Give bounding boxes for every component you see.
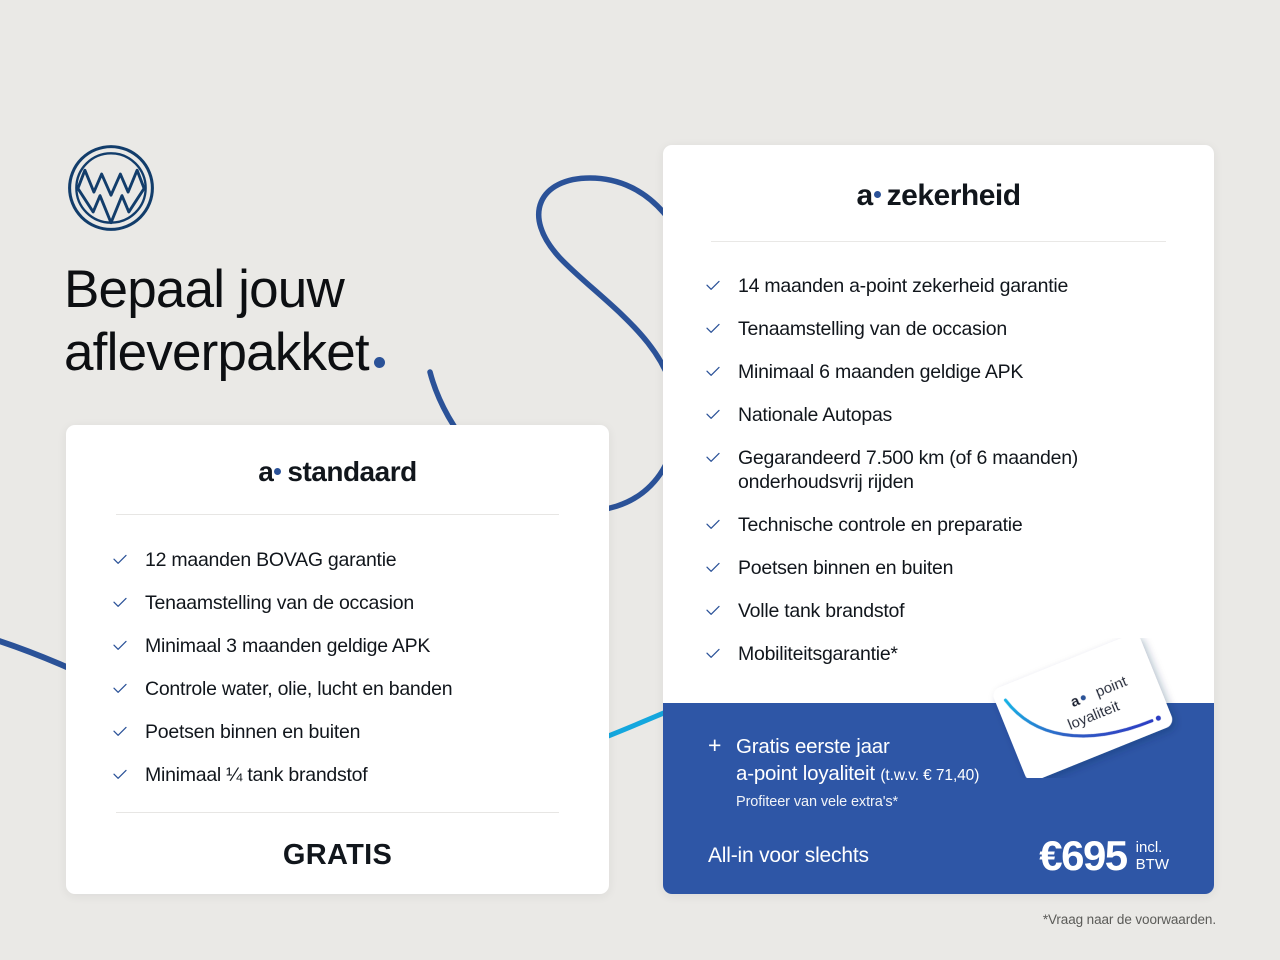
list-item: Poetsen binnen en buiten bbox=[705, 556, 1168, 580]
headline-dot-icon bbox=[374, 357, 385, 368]
list-item: Poetsen binnen en buiten bbox=[112, 720, 563, 744]
feature-label: Gegarandeerd 7.500 km (of 6 maanden) ond… bbox=[738, 446, 1168, 494]
checkmark-icon bbox=[705, 321, 721, 337]
list-item: 12 maanden BOVAG garantie bbox=[112, 548, 563, 572]
feature-label: Tenaamstelling van de occasion bbox=[738, 317, 1007, 341]
list-item: Nationale Autopas bbox=[705, 403, 1168, 427]
list-item: Tenaamstelling van de occasion bbox=[112, 591, 563, 615]
checkmark-icon bbox=[112, 638, 128, 654]
headline-line-1: Bepaal jouw bbox=[64, 260, 344, 319]
promo-price-amount: €695 bbox=[1039, 835, 1126, 877]
list-item: Minimaal 3 maanden geldige APK bbox=[112, 634, 563, 658]
feature-label: Poetsen binnen en buiten bbox=[738, 556, 953, 580]
checkmark-icon bbox=[705, 560, 721, 576]
promo-subline: Profiteer van vele extra's* bbox=[736, 791, 1214, 813]
list-item: Mobiliteitsgarantie* bbox=[705, 642, 1168, 666]
feature-label: Nationale Autopas bbox=[738, 403, 892, 427]
promo-bonus-value: (t.w.v. € 71,40) bbox=[880, 767, 979, 784]
feature-label: Volle tank brandstof bbox=[738, 599, 904, 623]
checkmark-icon bbox=[705, 364, 721, 380]
footnote-text: *Vraag naar de voorwaarden. bbox=[1043, 912, 1216, 927]
promo-bonus-row: + Gratis eerste jaar a-point loyaliteit … bbox=[708, 733, 1214, 813]
checkmark-icon bbox=[112, 552, 128, 568]
list-item: Tenaamstelling van de occasion bbox=[705, 317, 1168, 341]
headline-line-2: afleverpakket bbox=[64, 323, 369, 382]
feature-label: Mobiliteitsgarantie* bbox=[738, 642, 898, 666]
feature-label: Minimaal ¼ tank brandstof bbox=[145, 763, 367, 787]
promo-bonus-line-1: Gratis eerste jaar bbox=[736, 733, 1214, 760]
feature-label: Minimaal 6 maanden geldige APK bbox=[738, 360, 1023, 384]
promo-price-row: All-in voor slechts €695 incl. BTW bbox=[708, 835, 1214, 877]
promo-price-vat-note: incl. BTW bbox=[1136, 839, 1169, 873]
zekerheid-divider-top bbox=[711, 241, 1166, 242]
volkswagen-logo bbox=[66, 143, 156, 233]
list-item: Gegarandeerd 7.500 km (of 6 maanden) ond… bbox=[705, 446, 1168, 494]
zekerheid-feature-list: 14 maanden a-point zekerheid garantie Te… bbox=[663, 274, 1214, 666]
checkmark-icon bbox=[112, 724, 128, 740]
checkmark-icon bbox=[112, 767, 128, 783]
page-title: Bepaal jouw afleverpakket bbox=[64, 258, 385, 384]
list-item: Minimaal ¼ tank brandstof bbox=[112, 763, 563, 787]
feature-label: 14 maanden a-point zekerheid garantie bbox=[738, 274, 1068, 298]
promo-bonus-line-2: a-point loyaliteit bbox=[736, 762, 875, 785]
brand-dot-icon bbox=[874, 191, 881, 198]
promo-vat-line-1: incl. bbox=[1136, 839, 1169, 856]
standaard-divider-top bbox=[116, 514, 559, 515]
feature-label: 12 maanden BOVAG garantie bbox=[145, 548, 396, 572]
list-item: 14 maanden a-point zekerheid garantie bbox=[705, 274, 1168, 298]
standaard-feature-list: 12 maanden BOVAG garantie Tenaamstelling… bbox=[66, 548, 609, 787]
promo-amount-group: €695 incl. BTW bbox=[1039, 835, 1169, 877]
list-item: Volle tank brandstof bbox=[705, 599, 1168, 623]
promo-allin-label: All-in voor slechts bbox=[708, 844, 869, 868]
brand-a-letter: a bbox=[856, 179, 872, 212]
checkmark-icon bbox=[705, 278, 721, 294]
feature-label: Controle water, olie, lucht en banden bbox=[145, 677, 452, 701]
feature-label: Tenaamstelling van de occasion bbox=[145, 591, 414, 615]
zekerheid-title-text: zekerheid bbox=[887, 179, 1021, 212]
package-card-zekerheid: azekerheid 14 maanden a-point zekerheid … bbox=[663, 145, 1214, 894]
checkmark-icon bbox=[112, 595, 128, 611]
standaard-divider-bottom bbox=[116, 812, 559, 813]
checkmark-icon bbox=[705, 603, 721, 619]
checkmark-icon bbox=[705, 646, 721, 662]
list-item: Minimaal 6 maanden geldige APK bbox=[705, 360, 1168, 384]
promo-vat-line-2: BTW bbox=[1136, 856, 1169, 873]
feature-label: Minimaal 3 maanden geldige APK bbox=[145, 634, 430, 658]
checkmark-icon bbox=[705, 407, 721, 423]
feature-label: Technische controle en preparatie bbox=[738, 513, 1022, 537]
package-card-standaard: astandaard 12 maanden BOVAG garantie Ten… bbox=[66, 425, 609, 894]
checkmark-icon bbox=[705, 450, 721, 466]
standaard-card-title: astandaard bbox=[66, 456, 609, 488]
checkmark-icon bbox=[705, 517, 721, 533]
promo-panel: + Gratis eerste jaar a-point loyaliteit … bbox=[663, 703, 1214, 894]
brand-a-letter: a bbox=[258, 456, 273, 487]
zekerheid-card-title: azekerheid bbox=[663, 179, 1214, 213]
standaard-price: GRATIS bbox=[66, 839, 609, 872]
plus-icon: + bbox=[708, 733, 736, 758]
standaard-title-text: standaard bbox=[287, 456, 416, 487]
brand-dot-icon bbox=[274, 468, 281, 475]
list-item: Controle water, olie, lucht en banden bbox=[112, 677, 563, 701]
list-item: Technische controle en preparatie bbox=[705, 513, 1168, 537]
checkmark-icon bbox=[112, 681, 128, 697]
feature-label: Poetsen binnen en buiten bbox=[145, 720, 360, 744]
